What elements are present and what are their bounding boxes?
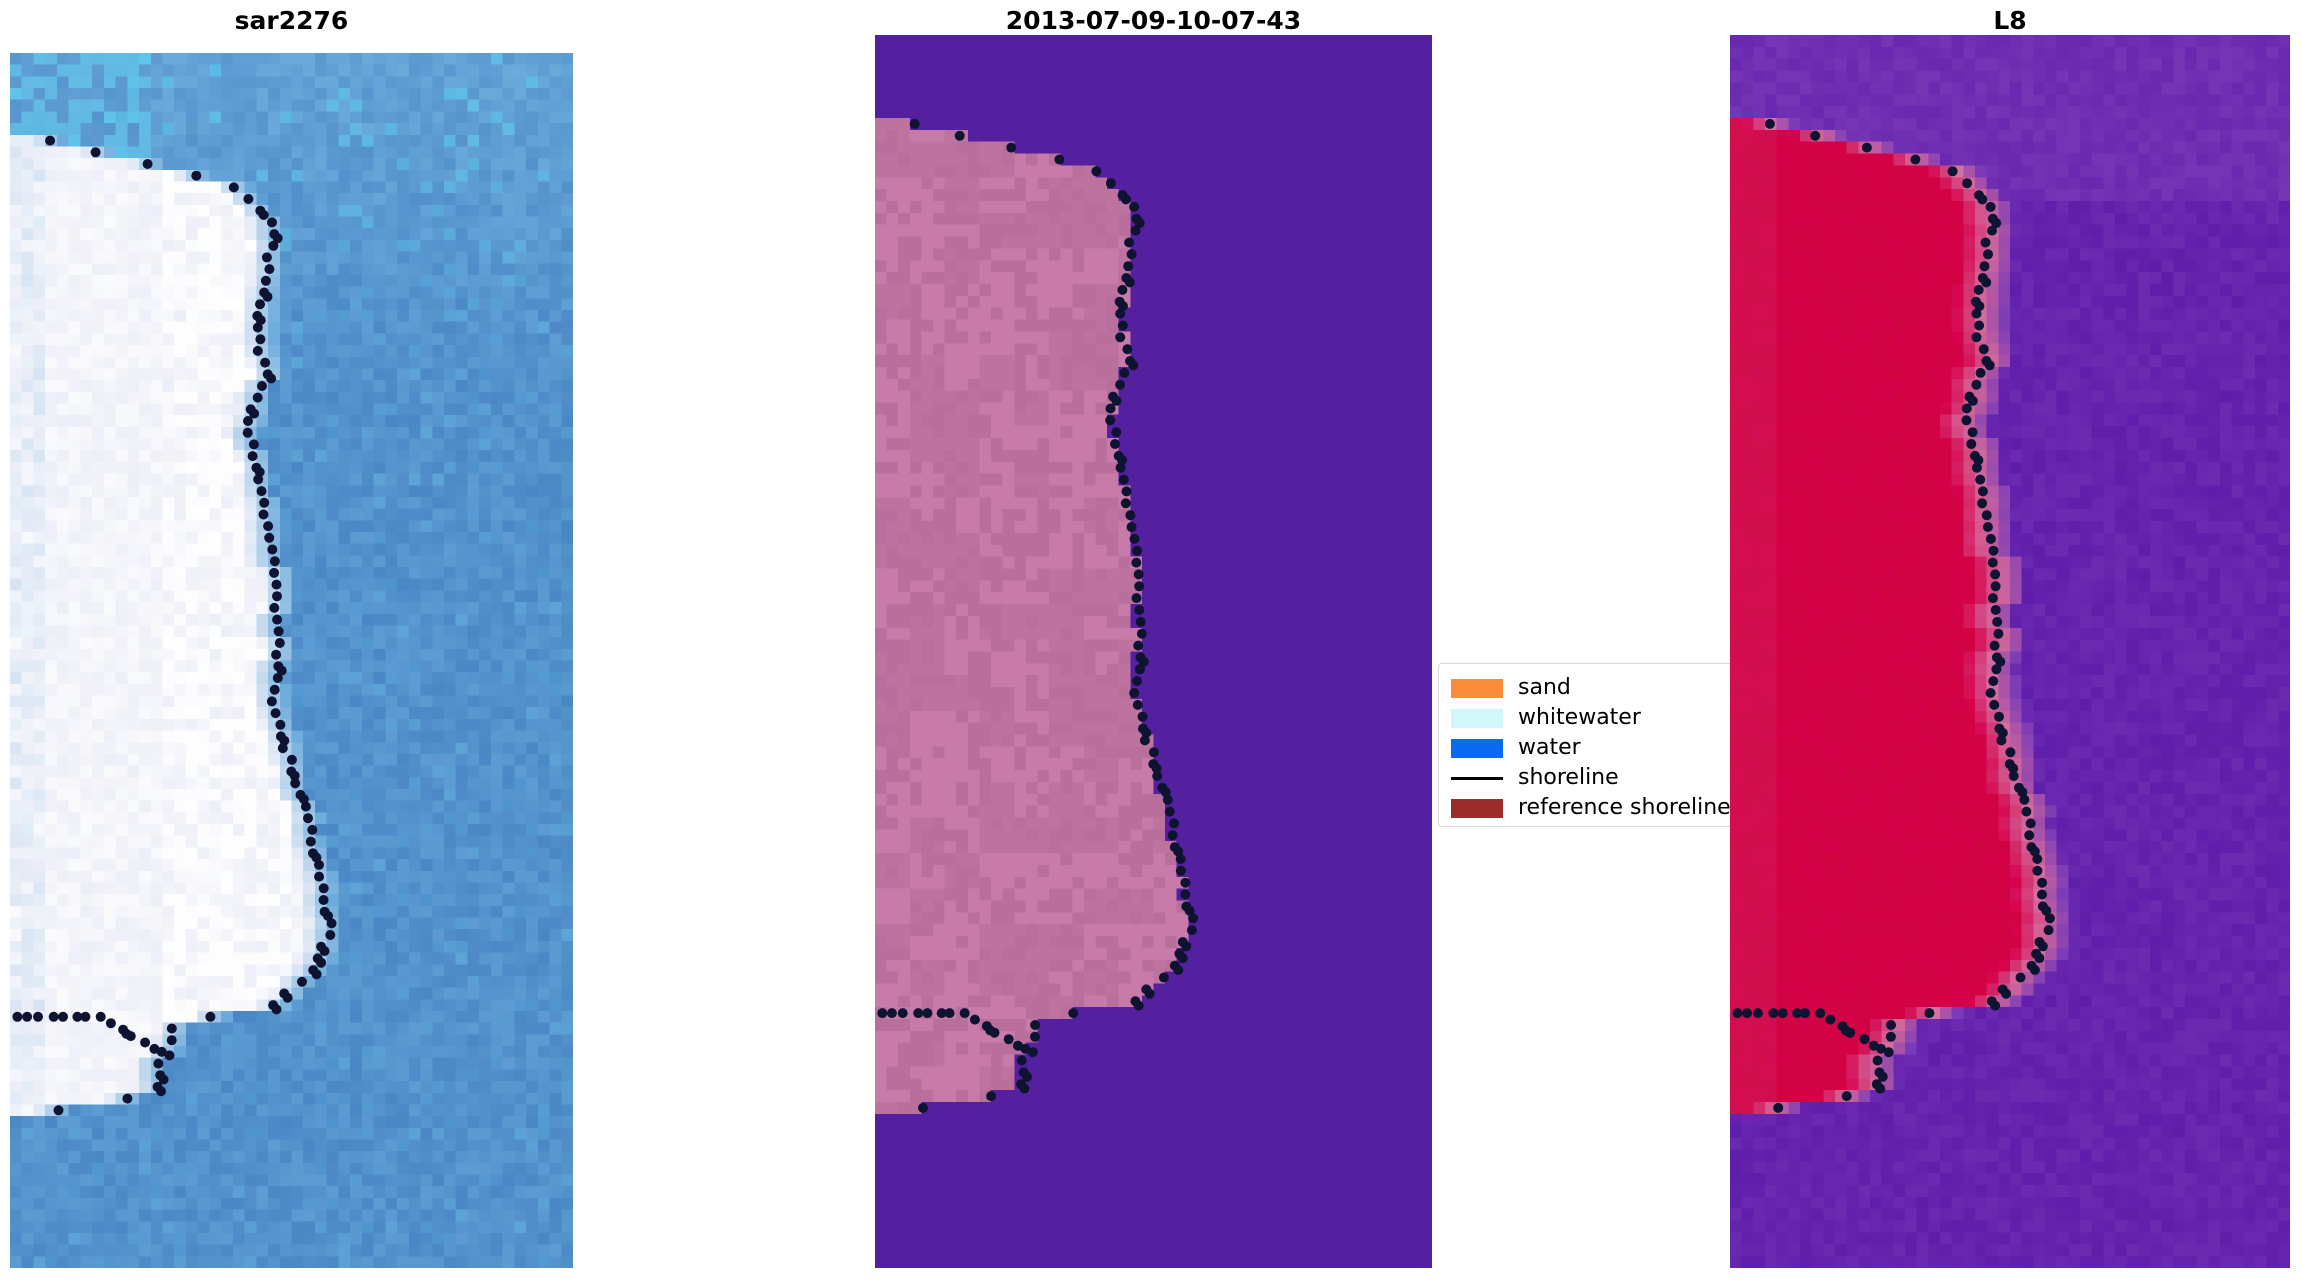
sar-raster bbox=[10, 53, 573, 1268]
legend-label-shoreline: shoreline bbox=[1518, 767, 1619, 789]
legend-item-water: water bbox=[1451, 733, 1727, 763]
panel-title-sar: sar2276 bbox=[10, 8, 573, 33]
legend-item-sand: sand bbox=[1451, 673, 1727, 703]
sar-panel bbox=[10, 53, 573, 1268]
classified-raster bbox=[875, 35, 1432, 1268]
legend-item-reference-buffer: reference shoreline buffer bbox=[1451, 793, 1727, 823]
map-legend: sand whitewater water shoreline referenc… bbox=[1438, 663, 1738, 827]
legend-item-shoreline: shoreline bbox=[1451, 763, 1727, 793]
l8-panel bbox=[1730, 35, 2290, 1268]
legend-label-whitewater: whitewater bbox=[1518, 707, 1641, 729]
sand-swatch-icon bbox=[1451, 679, 1503, 698]
water-swatch-icon bbox=[1451, 739, 1503, 758]
legend-label-sand: sand bbox=[1518, 677, 1571, 699]
classified-panel bbox=[875, 35, 1432, 1268]
l8-raster bbox=[1730, 35, 2290, 1268]
panel-title-l8: L8 bbox=[1730, 8, 2290, 33]
reference-buffer-swatch-icon bbox=[1451, 799, 1503, 818]
figure-canvas: sar2276 2013-07-09-10-07-43 L8 sand whit… bbox=[0, 0, 2301, 1283]
shoreline-line-icon bbox=[1451, 769, 1503, 788]
legend-label-water: water bbox=[1518, 737, 1581, 759]
panel-title-classified: 2013-07-09-10-07-43 bbox=[875, 8, 1432, 33]
whitewater-swatch-icon bbox=[1451, 709, 1503, 728]
legend-item-whitewater: whitewater bbox=[1451, 703, 1727, 733]
